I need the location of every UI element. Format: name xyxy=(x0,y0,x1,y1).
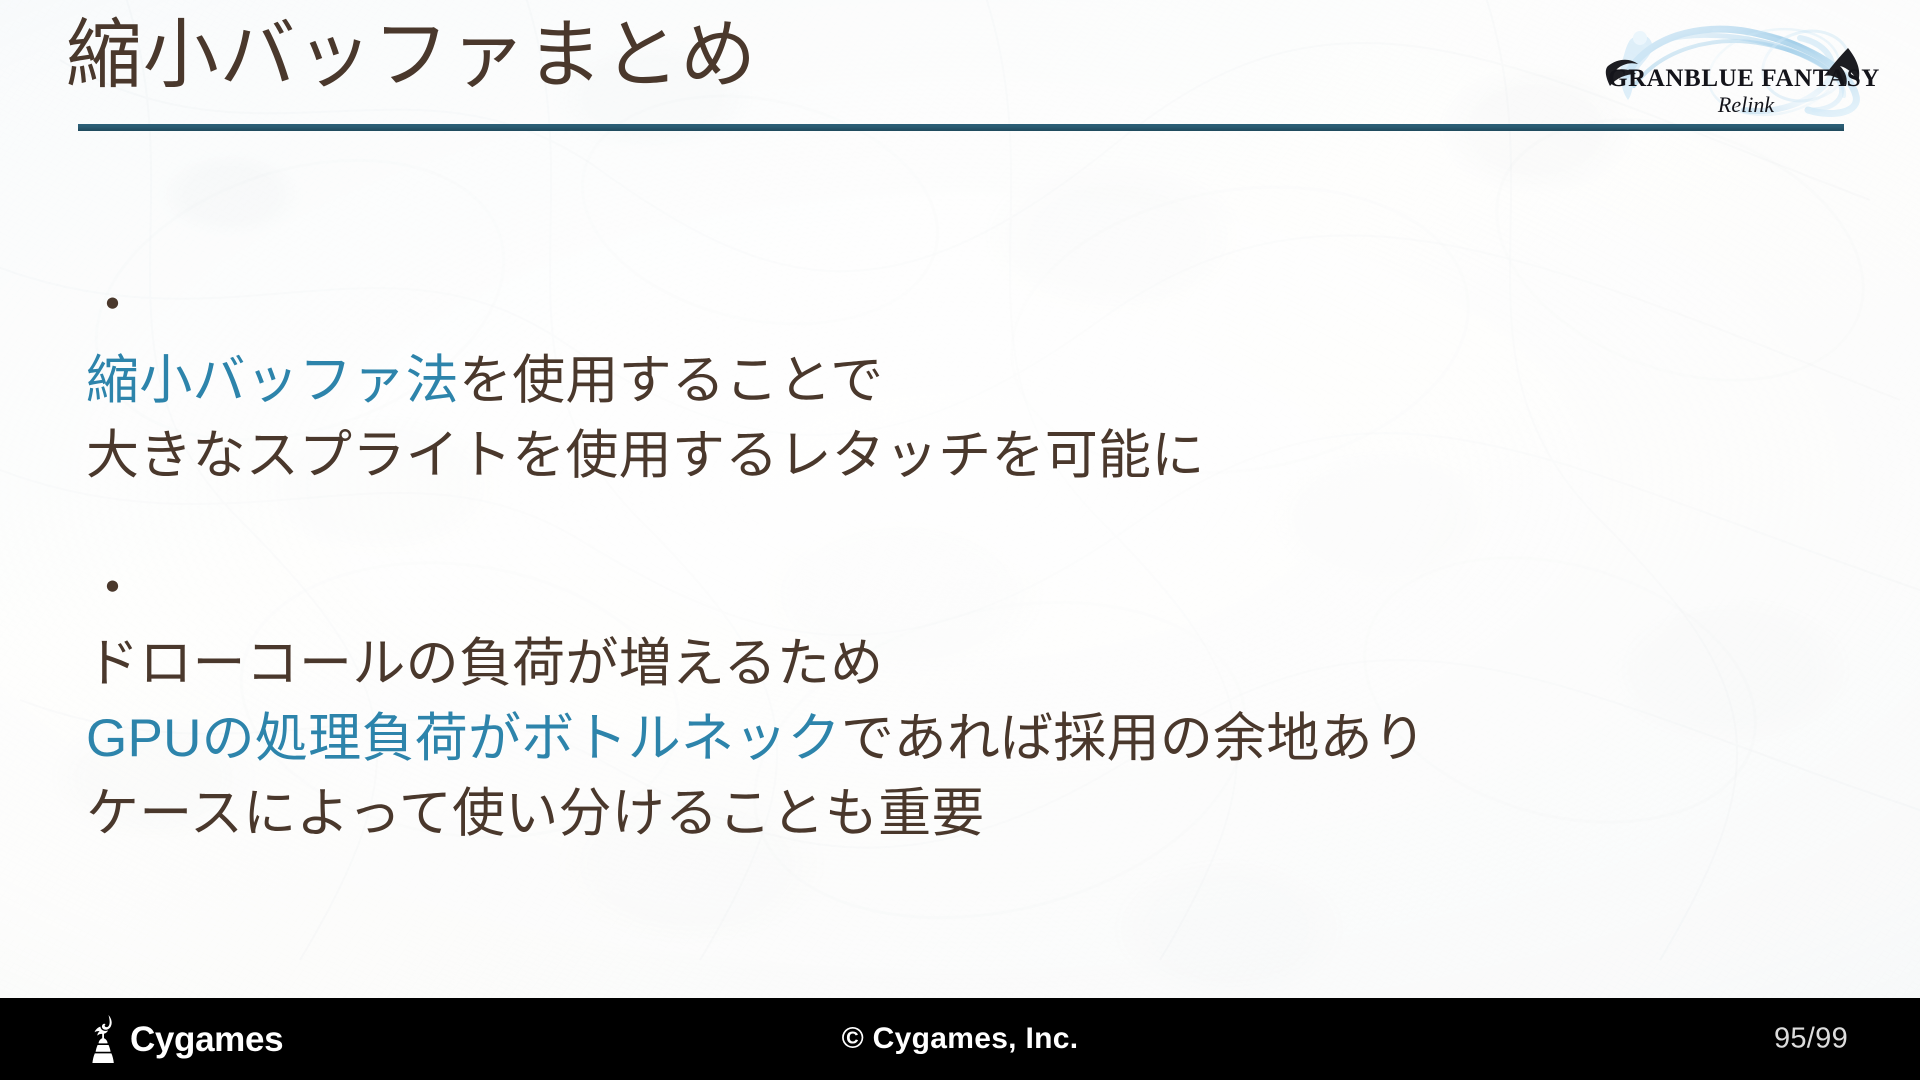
copyright-text: © Cygames, Inc. xyxy=(0,1022,1920,1056)
bullet-line: ドローコールの負荷が増えるため xyxy=(86,626,1876,701)
bullet-text: ドローコールの負荷が増えるため xyxy=(86,634,883,693)
granblue-fantasy-relink-logo: GRANBLUE FANTASY Relink xyxy=(1594,14,1894,126)
bullet-marker: ・ xyxy=(86,268,148,343)
slide-body: ・ 縮小バッファ法を使用することで 大きなスプライトを使用するレタッチを可能に … xyxy=(86,268,1876,851)
page-number: 95/99 xyxy=(1774,1023,1848,1056)
bullet-text-highlight: 縮小バッファ法 xyxy=(86,351,459,410)
logo-secondary-text: Relink xyxy=(1717,92,1775,117)
bullet-text: であれば採用の余地あり xyxy=(841,709,1426,768)
slide-title: 縮小バッファまとめ xyxy=(66,18,757,94)
bullet-line: 縮小バッファ法を使用することで xyxy=(86,343,1876,418)
title-divider-rule xyxy=(78,124,1844,131)
bullet-item: ・ 縮小バッファ法を使用することで 大きなスプライトを使用するレタッチを可能に xyxy=(86,268,1876,493)
bullet-line: 大きなスプライトを使用するレタッチを可能に xyxy=(86,418,1876,493)
bullet-line: GPUの処理負荷がボトルネックであれば採用の余地あり xyxy=(86,701,1876,776)
bullet-text: 大きなスプライトを使用するレタッチを可能に xyxy=(86,426,1205,485)
bullet-text-highlight: GPUの処理負荷がボトルネック xyxy=(86,709,841,768)
bullet-lines: 縮小バッファ法を使用することで 大きなスプライトを使用するレタッチを可能に xyxy=(86,343,1876,493)
slide-footer: Cygames © Cygames, Inc. 95/99 xyxy=(0,998,1920,1080)
bullet-text: ケースによって使い分けることも重要 xyxy=(86,784,985,843)
presentation-slide: 縮小バッファまとめ xyxy=(0,0,1920,1080)
bullet-marker: ・ xyxy=(86,551,148,626)
logo-primary-text: GRANBLUE FANTASY xyxy=(1608,65,1880,92)
bullet-text: を使用することで xyxy=(459,351,884,410)
bullet-item: ・ ドローコールの負荷が増えるため GPUの処理負荷がボトルネックであれば採用の… xyxy=(86,551,1876,851)
bullet-lines: ドローコールの負荷が増えるため GPUの処理負荷がボトルネックであれば採用の余地… xyxy=(86,626,1876,851)
bullet-line: ケースによって使い分けることも重要 xyxy=(86,776,1876,851)
